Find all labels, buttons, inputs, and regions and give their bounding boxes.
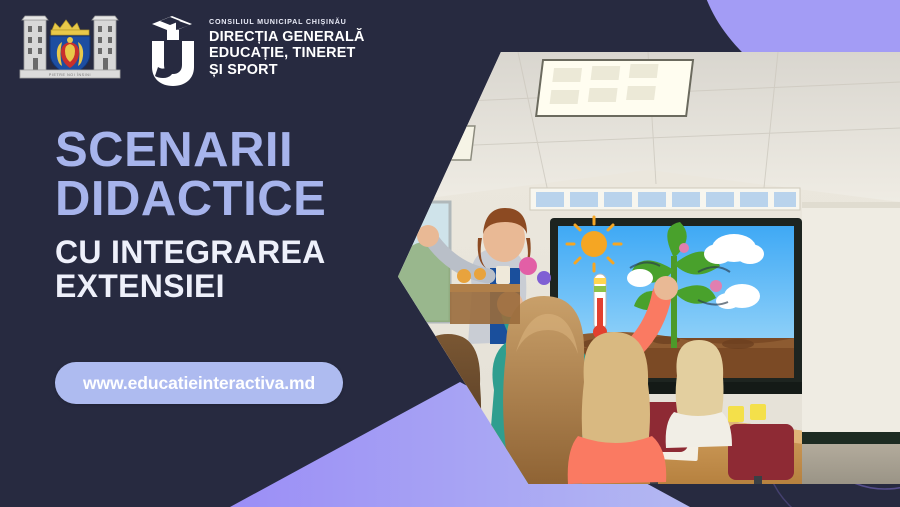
logo-row: PIETRE NOI ÎNSINI CONSILIUL (16, 10, 365, 87)
dgets-line-2: EDUCAȚIE, TINERET (209, 45, 365, 61)
headline-line-4: EXTENSIEI (55, 270, 326, 304)
classroom-photo (398, 52, 900, 484)
classroom-scene-illustration (398, 52, 900, 484)
website-url-pill[interactable]: www.educatieinteractiva.md (55, 362, 343, 404)
page-title: SCENARII DIDACTICE CU INTEGRAREA EXTENSI… (55, 126, 326, 304)
headline-line-2: DIDACTICE (55, 175, 326, 224)
dgets-text-block: CONSILIUL MUNICIPAL CHIȘINĂU DIRECȚIA GE… (209, 11, 365, 78)
decorative-purple-wedge-bottom-left (0, 437, 160, 507)
coat-of-arms-motto: PIETRE NOI ÎNSINI (49, 73, 91, 77)
website-url-label: www.educatieinteractiva.md (83, 373, 315, 394)
headline-line-1: SCENARII (55, 126, 326, 175)
poster-canvas: PIETRE NOI ÎNSINI CONSILIUL (0, 0, 900, 507)
dgets-line-3: ȘI SPORT (209, 62, 365, 78)
headline-line-3: CU INTEGRAREA (55, 236, 326, 270)
dgets-graduation-cap-logo-icon (146, 11, 200, 87)
dgets-line-1: DIRECȚIA GENERALĂ (209, 29, 365, 45)
dgets-logo-block: CONSILIUL MUNICIPAL CHIȘINĂU DIRECȚIA GE… (146, 10, 365, 87)
chisinau-coat-of-arms-icon: PIETRE NOI ÎNSINI (16, 10, 124, 82)
dgets-kicker: CONSILIUL MUNICIPAL CHIȘINĂU (209, 18, 365, 25)
